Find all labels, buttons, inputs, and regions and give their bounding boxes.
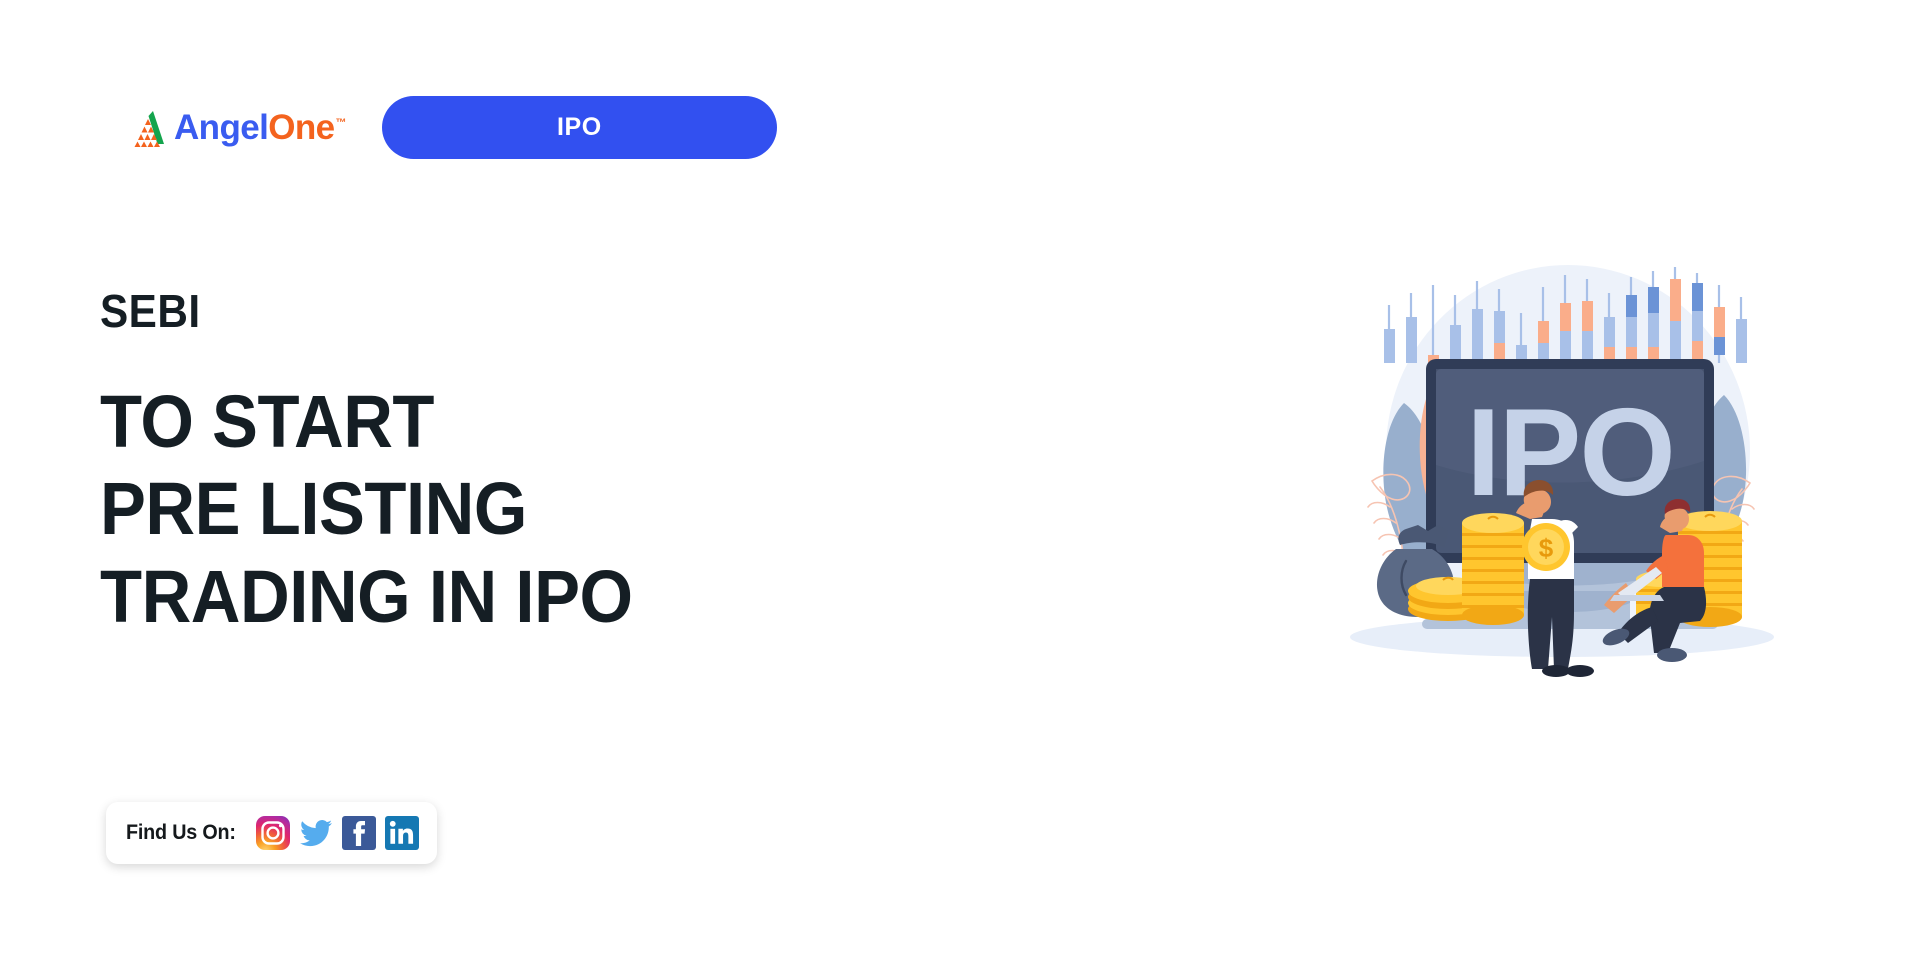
title-line-1: TO START xyxy=(100,378,633,465)
social-bar-label: Find Us On: xyxy=(126,821,236,845)
angelone-logo[interactable]: AngelOne™ xyxy=(126,107,346,149)
trademark-symbol: ™ xyxy=(336,117,346,129)
banner-canvas: AngelOne™ IPO SEBI TO START PRE LISTING … xyxy=(0,0,1920,966)
ipo-button[interactable]: IPO xyxy=(382,96,777,159)
facebook-icon[interactable] xyxy=(342,816,376,850)
page-title: TO START PRE LISTING TRADING IN IPO xyxy=(100,378,673,640)
header: AngelOne™ IPO xyxy=(126,96,777,159)
title-line-2: PRE LISTING xyxy=(100,465,633,552)
ipo-illustration: IPO xyxy=(1280,255,1840,695)
linkedin-icon[interactable] xyxy=(385,816,419,850)
angelone-wordmark: AngelOne™ xyxy=(174,110,346,145)
wordmark-one: One xyxy=(268,108,334,147)
social-bar: Find Us On: xyxy=(106,802,437,864)
headline-block: SEBI TO START PRE LISTING TRADING IN IPO xyxy=(100,288,673,640)
twitter-icon[interactable] xyxy=(299,816,333,850)
headline-eyebrow: SEBI xyxy=(100,288,627,334)
svg-text:$: $ xyxy=(1539,533,1554,563)
wordmark-angel: Angel xyxy=(174,108,268,147)
ipo-illustration-graphic: IPO xyxy=(1280,255,1840,695)
monitor-screen-label: IPO xyxy=(1466,384,1674,522)
social-icon-list xyxy=(256,816,419,850)
instagram-icon[interactable] xyxy=(256,816,290,850)
angelone-triangle-logo-icon xyxy=(126,107,168,149)
title-line-3: TRADING IN IPO xyxy=(100,553,633,640)
